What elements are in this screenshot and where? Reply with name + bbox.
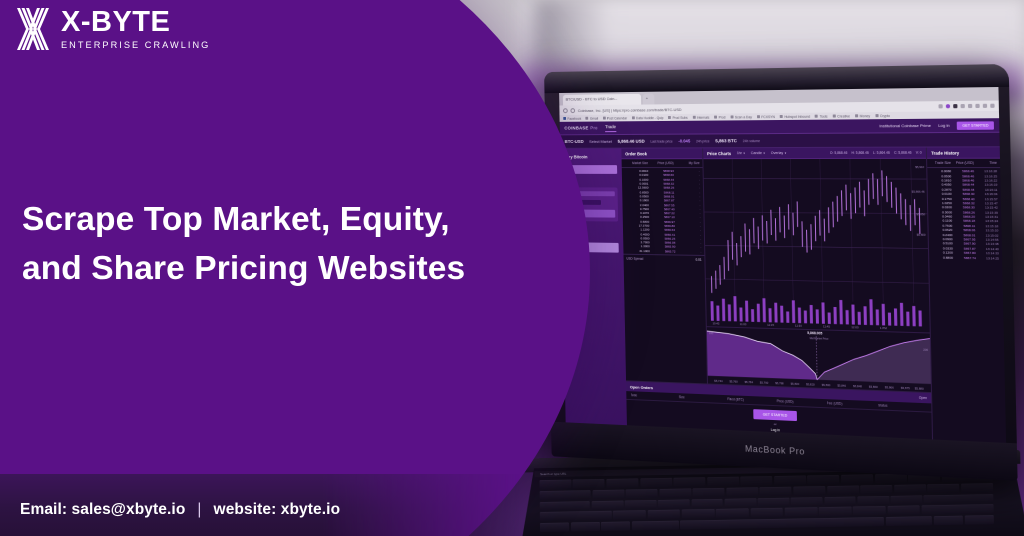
price-charts-panel: Price Charts 1hr Candle Overlay O: 5,868…	[703, 148, 931, 393]
key[interactable]	[774, 476, 806, 486]
depth-mid-price: 5,868.005	[807, 331, 822, 335]
depth-x-tick-5: $5,800	[791, 382, 800, 386]
bookmark-item[interactable]: Prod	[714, 115, 725, 119]
key[interactable]	[626, 489, 658, 499]
chart-y-tick-3: $5,800	[917, 233, 926, 237]
bookmark-item[interactable]: Scan a Day	[730, 115, 752, 119]
candlestick-chart[interactable]: $5,910 $5,866.46 $5,850 $5,800 10:45 11:…	[703, 159, 929, 333]
order-book-rows: 0.00105868.93-0.01005868.60-0.10005868.4…	[622, 168, 705, 255]
col-price-usd: Price (USD)	[650, 161, 674, 165]
depth-x-tick-2: $5,784	[745, 380, 753, 384]
get-started-button[interactable]: GET STARTED	[753, 409, 798, 421]
extension-icon[interactable]	[938, 104, 942, 108]
depth-y-tick-1: 200	[923, 348, 928, 352]
extension-icon-purple[interactable]	[946, 104, 950, 108]
reload-icon[interactable]	[570, 108, 575, 113]
key[interactable]	[890, 495, 922, 505]
key[interactable]	[819, 507, 852, 517]
cell-trade-time: 13:16:25	[976, 174, 997, 178]
volume-24h: 5,863 BTC	[715, 138, 737, 143]
key[interactable]	[875, 474, 907, 484]
order-book-header: Order Book	[621, 148, 702, 159]
depth-x-tick-3: $5,790	[760, 381, 769, 385]
bookmark-favicon	[563, 117, 566, 120]
bookmark-label: Internals	[697, 115, 710, 119]
app-brand-name: COINBASE	[564, 125, 588, 130]
bookmark-label: Facebook	[567, 116, 581, 120]
bookmark-item[interactable]: Crypto	[875, 113, 890, 117]
depth-x-tick-6: $5,820	[806, 382, 815, 386]
bookmark-label: Post Calendar	[607, 116, 627, 120]
menu-icon[interactable]	[990, 104, 994, 108]
cell-trade-price: 5867.74	[955, 255, 976, 259]
chart-ohlc-stats: O: 5,868.46 H: 5,868.46 L: 5,864.46 C: 5…	[830, 151, 922, 155]
cell-trade-size: 0.8800	[932, 255, 953, 259]
last-trade-price: 5,868.46 USD	[618, 139, 645, 144]
col-status: Status	[878, 403, 926, 409]
headline-line-2: and Share Pricing Websites	[22, 245, 542, 294]
depth-x-tick-1: $5,760	[729, 379, 737, 383]
key[interactable]	[592, 500, 624, 510]
volume-24h-label: 24h volume	[743, 139, 760, 143]
laptop-screen: BTC/USD - BTC to USD Coin... + Coinbase,…	[559, 87, 1006, 443]
bookmark-item[interactable]: Post Calendar	[603, 116, 627, 120]
ohlc-low: L: 5,864.46	[873, 151, 890, 155]
key[interactable]	[539, 480, 571, 490]
price-charts-header: Price Charts 1hr Candle Overlay O: 5,868…	[703, 148, 926, 160]
key-option[interactable]	[601, 522, 630, 532]
new-tab-button[interactable]: +	[643, 94, 655, 105]
bookmark-favicon	[692, 116, 695, 119]
bookmark-item[interactable]: Prod Subs	[668, 115, 688, 119]
key[interactable]	[740, 476, 772, 486]
bookmark-label: Creative	[837, 114, 850, 118]
key[interactable]	[894, 484, 926, 494]
price-change-pct: -0.045	[678, 138, 690, 143]
bookmark-item[interactable]: Data Huddle - Quip	[632, 116, 664, 120]
key[interactable]	[758, 497, 790, 507]
contact-info: Email: sales@xbyte.io | website: xbyte.i…	[20, 501, 340, 519]
chart-x-tick-0: 10:45	[712, 321, 719, 325]
key-ctrl[interactable]	[570, 522, 599, 532]
ohlc-open: O: 5,868.46	[830, 151, 848, 155]
chart-x-tick-6: 1 PM	[880, 326, 887, 330]
cell-trade-time: 13:14:25	[978, 256, 999, 260]
bookmark-item[interactable]: Internals	[692, 115, 709, 119]
extension-icon-dark[interactable]	[953, 104, 957, 108]
key[interactable]	[961, 483, 993, 493]
chart-x-tick-3: 11:30	[795, 324, 802, 328]
key[interactable]	[539, 490, 590, 500]
key[interactable]	[784, 508, 817, 518]
cell-trade-time: 13:16:22	[976, 178, 997, 182]
key[interactable]	[791, 497, 823, 507]
key[interactable]	[625, 500, 657, 510]
cell-trade-size: 0.0080	[930, 169, 951, 173]
bookmark-favicon	[603, 117, 606, 120]
key[interactable]	[827, 485, 859, 495]
chart-control-interval[interactable]: 1hr	[737, 151, 745, 155]
bookmark-favicon	[757, 115, 760, 118]
depth-x-tick-9: $5,848	[853, 384, 862, 388]
bookmark-label: Hubspot Inbound	[784, 114, 810, 118]
depth-y-tick-0: 100	[709, 331, 714, 335]
depth-mid-label: Mid Market Price	[810, 337, 829, 341]
key[interactable]	[807, 475, 839, 485]
col-trade-price: Price (USD)	[953, 161, 974, 165]
ohlc-high: H: 5,868.46	[851, 151, 868, 155]
col-filled: Filled (BTC)	[727, 397, 773, 403]
key[interactable]	[726, 487, 758, 497]
order-book-spread: USD Spread 0.01	[623, 254, 704, 264]
depth-x-tick-8: $5,840	[837, 383, 846, 387]
candlestick-svg	[703, 159, 929, 333]
x-byte-logo-icon	[16, 8, 50, 50]
browser-chrome: BTC/USD - BTC to USD Coin... + Coinbase,…	[559, 87, 999, 122]
col-side: Side	[631, 393, 675, 399]
coinbase-pro-app: COINBASEPro Trade Institutional Coinbase…	[560, 118, 1006, 443]
cell-trade-size: 0.0500	[931, 174, 952, 178]
bookmark-item[interactable]: Creative	[833, 114, 850, 118]
key[interactable]	[857, 496, 889, 506]
bookmark-item[interactable]: Tools	[815, 114, 828, 118]
key[interactable]	[860, 485, 892, 495]
key[interactable]	[659, 488, 691, 498]
page-headline: Scrape Top Market, Equity, and Share Pri…	[22, 196, 542, 293]
headline-line-1: Scrape Top Market, Equity,	[22, 196, 542, 245]
open-orders-filter[interactable]: Open	[919, 396, 927, 400]
contact-separator: |	[197, 501, 201, 519]
link-institutional[interactable]: Institutional Coinbase Prime	[879, 123, 931, 128]
key[interactable]	[887, 506, 920, 516]
marketing-banner: Search or type URL	[0, 0, 1024, 536]
extension-icon[interactable]	[975, 104, 979, 108]
bookmark-item[interactable]: Hubspot Inbound	[780, 114, 810, 118]
key[interactable]	[658, 499, 690, 509]
last-trade-price-label: Last trade price	[650, 139, 672, 143]
email-label[interactable]: Email: sales@xbyte.io	[20, 501, 185, 519]
spread-value: 0.01	[664, 257, 702, 262]
key[interactable]	[592, 489, 624, 499]
key[interactable]	[573, 479, 605, 489]
key[interactable]	[793, 486, 825, 496]
depth-x-tick-11: $5,866	[885, 385, 894, 389]
back-icon[interactable]	[563, 108, 568, 113]
key[interactable]	[927, 484, 959, 494]
bookmark-label: Gmail	[590, 116, 598, 120]
depth-x-tick-10: $5,860	[869, 385, 878, 389]
key[interactable]	[716, 509, 749, 519]
cell-trade-price: 5868.46	[953, 174, 974, 178]
col-fee: Fee (USD)	[827, 401, 874, 407]
extension-icon[interactable]	[968, 104, 972, 108]
depth-x-tick-12: $5,875	[901, 386, 910, 390]
key[interactable]	[673, 477, 705, 487]
depth-x-tick-13: $5,880	[915, 386, 924, 390]
market-select-dropdown[interactable]: Select Market	[589, 139, 612, 144]
key-command[interactable]	[632, 521, 679, 531]
key[interactable]	[682, 509, 715, 519]
bookmark-label: Prod	[719, 115, 726, 119]
key-option-right[interactable]	[934, 516, 963, 525]
browser-tab[interactable]: BTC/USD - BTC to USD Coin...	[563, 94, 641, 106]
bookmark-favicon	[668, 116, 671, 119]
bookmark-favicon	[780, 115, 783, 118]
chart-x-tick-2: 11:15	[767, 323, 774, 327]
get-started-button-top[interactable]: GET STARTED	[957, 121, 994, 130]
trade-history-panel: Trade History Trade Size Price (USD) Tim…	[926, 147, 1006, 443]
key[interactable]	[824, 496, 856, 506]
col-trade-size: Trade Size	[930, 161, 951, 165]
depth-chart[interactable]: 5,868.005 Mid Market Price 100 200 $5,74…	[707, 326, 931, 392]
key[interactable]	[691, 498, 723, 508]
chart-control-candle[interactable]: Candle	[751, 151, 765, 155]
key[interactable]	[724, 498, 756, 508]
open-orders-title: Open Orders	[630, 384, 653, 390]
bookmark-item[interactable]: Gmail	[586, 116, 598, 120]
bookmark-favicon	[833, 114, 836, 117]
bookmark-label: Money	[860, 114, 870, 118]
key[interactable]	[540, 501, 591, 511]
cell-price: 5865.72	[652, 249, 676, 253]
bookmark-label: Prod Subs	[672, 115, 687, 119]
key-space[interactable]	[680, 517, 884, 530]
trade-history-title: Trade History	[931, 150, 959, 155]
ohlc-close: C: 5,868.46	[894, 151, 912, 155]
cell-market-size: 31.1000	[626, 249, 650, 253]
link-login[interactable]: Log in	[938, 123, 950, 128]
key-command-right[interactable]	[886, 516, 933, 526]
col-trade-time: Time	[976, 161, 997, 165]
bookmark-label: Scan a Day	[735, 115, 752, 119]
laptop-lid: BTC/USD - BTC to USD Coin... + Coinbase,…	[544, 64, 1018, 481]
bookmark-label: FCXSYN	[761, 115, 775, 119]
main-column: Order Book Market Size Price (USD) My Si…	[621, 148, 932, 440]
cell-trade-time: 13:16:28	[976, 169, 997, 173]
nav-tab-trade[interactable]: Trade	[605, 124, 616, 132]
app-brand[interactable]: COINBASEPro	[564, 125, 597, 130]
key[interactable]	[606, 478, 638, 488]
sidebar-title: Buy Bitcoin	[565, 154, 617, 159]
bookmark-favicon	[586, 117, 589, 120]
key[interactable]	[760, 487, 792, 497]
bookmark-favicon	[855, 114, 858, 117]
chart-control-overlay[interactable]: Overlay	[771, 151, 786, 155]
bookmark-item[interactable]: Facebook	[563, 116, 581, 120]
or-divider-text: or	[774, 422, 777, 426]
trade-history-header: Trade History	[927, 147, 1000, 159]
cell-my-size: -	[677, 249, 701, 253]
brand-subtitle: ENTERPRISE CRAWLING	[61, 40, 210, 50]
app-body: Buy Bitcoin 0.00 USD 0.00000 BTC	[560, 147, 1006, 443]
col-my-size: My Size	[676, 161, 700, 165]
device-label: MacBook Pro	[745, 444, 805, 457]
keyboard-keys[interactable]	[539, 472, 994, 536]
col-price: Price (USD)	[777, 399, 823, 405]
order-book-panel: Order Book Market Size Price (USD) My Si…	[621, 148, 708, 383]
bookmark-item[interactable]: Money	[855, 114, 870, 118]
depth-x-tick-0: $5,744	[714, 379, 722, 383]
key[interactable]	[707, 477, 739, 487]
bookmark-favicon	[815, 115, 818, 118]
brand-title: X-BYTE	[61, 8, 210, 37]
trade-history-row[interactable]: 0.88005867.7413:14:25	[932, 255, 999, 261]
key-fn[interactable]	[540, 523, 569, 533]
chart-y-tick-1: $5,866.46	[912, 190, 925, 194]
macbook-pro-laptop: Search or type URL	[520, 62, 1024, 536]
bookmark-favicon	[714, 116, 717, 119]
website-label[interactable]: website: xbyte.io	[214, 501, 341, 519]
trade-history-columns: Trade Size Price (USD) Time	[927, 159, 1000, 168]
key-return[interactable]	[924, 494, 994, 504]
key-shift[interactable]	[540, 511, 612, 521]
spread-label: USD Spread	[626, 257, 663, 262]
bookmark-favicon	[632, 116, 635, 119]
browser-extension-icons	[938, 104, 994, 109]
trade-history-rows: 0.00805868.4613:16:280.05005868.4613:16:…	[927, 168, 1002, 261]
chart-x-tick-1: 11:00	[740, 322, 747, 326]
extension-icon[interactable]	[983, 104, 987, 108]
chart-y-tick-0: $5,910	[915, 165, 924, 169]
chart-x-tick-5: 12:00	[851, 325, 858, 329]
key-shift-right[interactable]	[922, 505, 994, 515]
key[interactable]	[841, 474, 873, 484]
chart-y-tick-2: $5,850	[916, 212, 925, 216]
bookmark-label: Data Huddle - Quip	[636, 116, 664, 120]
key[interactable]	[853, 506, 886, 516]
col-size: Size	[679, 395, 724, 401]
price-charts-title: Price Charts	[707, 151, 731, 156]
ticker-pair: BTC-USD	[565, 139, 584, 144]
key-arrows[interactable]	[965, 515, 994, 524]
bookmark-favicon	[730, 115, 733, 118]
bookmark-item[interactable]: FCXSYN	[757, 115, 775, 119]
extension-icon[interactable]	[961, 104, 965, 108]
orderbook-and-charts: Order Book Market Size Price (USD) My Si…	[621, 148, 931, 393]
key[interactable]	[750, 508, 783, 518]
market-ticker-bar: BTC-USD Select Market 5,868.46 USD Last …	[560, 133, 1000, 149]
ohlc-volume: V: 0	[916, 151, 922, 155]
key[interactable]	[613, 511, 646, 521]
key[interactable]	[693, 488, 725, 498]
app-top-right: Institutional Coinbase Prime Log in GET …	[879, 121, 994, 130]
cell-trade-price: 5868.46	[953, 169, 974, 173]
order-book-title: Order Book	[625, 151, 647, 156]
col-market-size: Market Size	[624, 161, 648, 165]
bookmark-label: Crypto	[880, 113, 890, 117]
bookmark-label: Tools	[820, 114, 828, 118]
bookmark-favicon	[875, 114, 878, 117]
x-byte-logo-svg	[16, 8, 50, 50]
depth-x-tick-7: $5,830	[822, 383, 831, 387]
app-brand-suffix: Pro	[590, 125, 597, 130]
brand-logo-text: X-BYTE ENTERPRISE CRAWLING	[61, 8, 210, 50]
chart-x-tick-4: 11:45	[823, 324, 830, 328]
price-change-label: 24h price	[696, 139, 710, 143]
touchbar-hint: Search or type URL	[540, 472, 566, 476]
key[interactable]	[647, 510, 680, 520]
order-book-columns: Market Size Price (USD) My Size	[622, 159, 703, 168]
brand-logo[interactable]: X-BYTE ENTERPRISE CRAWLING	[16, 8, 210, 50]
key[interactable]	[640, 478, 672, 488]
depth-x-tick-4: $5,798	[775, 381, 784, 385]
